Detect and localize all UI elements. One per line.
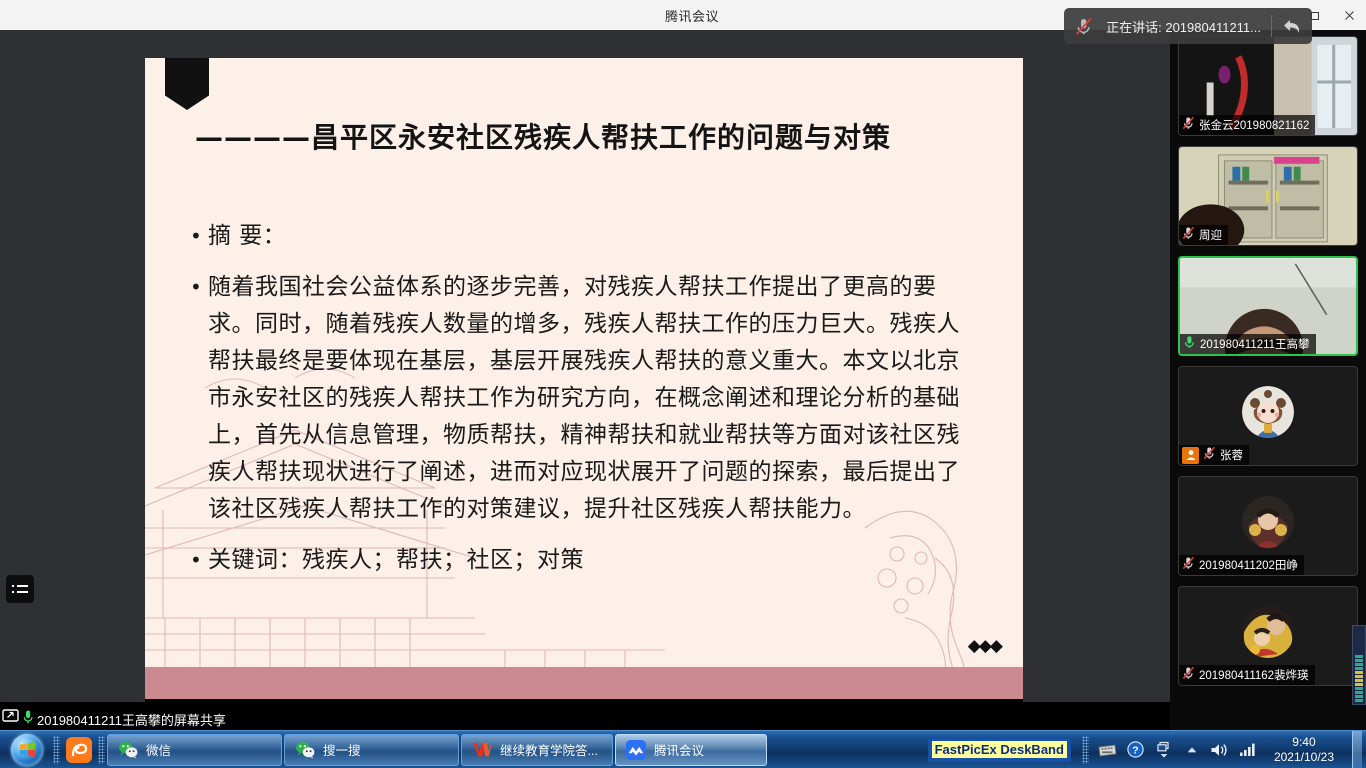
participant-tile[interactable]: 周迎 — [1178, 146, 1358, 246]
participant-namebar: 张金云201980821162 — [1179, 115, 1315, 135]
close-button[interactable] — [1332, 0, 1366, 30]
slide-body: • 摘 要： • 随着我国社会公益体系的逐步完善，对残疾人帮扶工作提出了更高的要… — [190, 218, 980, 593]
slide-bottom-bar — [145, 699, 1023, 702]
taskbar-clock[interactable]: 9:40 2021/10/23 — [1266, 735, 1342, 765]
slide-bullet-text: 关键词：残疾人；帮扶；社区；对策 — [208, 542, 584, 579]
fastpicex-deskband[interactable]: FastPicEx DeskBand — [928, 738, 1071, 762]
slide-bullet-text: 随着我国社会公益体系的逐步完善，对残疾人帮扶工作提出了更高的要求。同时，随着残疾… — [208, 269, 980, 528]
screen-share-status-text: 201980411211王高攀的屏幕共享 — [37, 710, 226, 729]
slide-bullet: • 随着我国社会公益体系的逐步完善，对残疾人帮扶工作提出了更高的要求。同时，随着… — [190, 269, 980, 528]
participant-tile[interactable]: 张金云201980821162 — [1178, 36, 1358, 136]
mic-muted-icon[interactable] — [1064, 17, 1104, 36]
wechat-icon — [295, 740, 315, 760]
participant-name: 201980411202田峥 — [1199, 557, 1298, 573]
mic-muted-icon — [1182, 556, 1195, 575]
uc-browser-icon[interactable] — [61, 737, 97, 763]
participant-name: 张金云201980821162 — [1199, 117, 1309, 133]
participant-tile[interactable]: 201980411202田峥 — [1178, 476, 1358, 576]
tencent-meeting-icon — [626, 740, 646, 760]
participant-namebar: 201980411211王高攀 — [1180, 334, 1316, 354]
host-badge-icon — [1182, 447, 1199, 464]
slide-diamond-decoration: ◆◆◆ — [968, 636, 1001, 656]
list-view-icon[interactable] — [6, 575, 34, 603]
desktop: 腾讯会议 — [0, 0, 1366, 768]
mic-on-icon — [22, 709, 34, 730]
avatar — [1242, 606, 1294, 658]
taskbar-item-tencent-meeting[interactable]: 腾讯会议 — [615, 734, 767, 766]
taskbar-item-label: 继续教育学院答... — [500, 740, 598, 759]
participant-name: 周迎 — [1199, 227, 1222, 243]
participant-tile[interactable]: 201980411162裴烨瑛 — [1178, 586, 1358, 686]
show-hidden-icons-icon[interactable] — [1182, 739, 1202, 761]
network-signal-icon[interactable] — [1238, 739, 1258, 761]
clock-date: 2021/10/23 — [1274, 750, 1334, 765]
mic-on-icon — [1183, 335, 1196, 354]
wps-icon — [472, 740, 492, 760]
mic-muted-icon — [1182, 116, 1195, 135]
participant-namebar: 张蓉 — [1179, 445, 1249, 465]
speaking-toast-text: 正在讲话: 201980411211... — [1104, 17, 1271, 36]
system-tray: FastPicEx DeskBand ? — [928, 731, 1366, 768]
screen-share-icon — [2, 709, 19, 729]
participant-tile[interactable]: 张蓉 — [1178, 366, 1358, 466]
mic-muted-icon — [1203, 446, 1216, 465]
keyboard-icon[interactable] — [1098, 739, 1118, 761]
toolbar-grip[interactable] — [97, 733, 106, 767]
shared-screen-stage: ————昌平区永安社区残疾人帮扶工作的问题与对策 • 摘 要： • 随着我国社会… — [0, 30, 1170, 702]
taskbar-item-wps[interactable]: 继续教育学院答... — [461, 734, 613, 766]
presentation-slide: ————昌平区永安社区残疾人帮扶工作的问题与对策 • 摘 要： • 随着我国社会… — [145, 58, 1023, 702]
volume-icon[interactable] — [1210, 739, 1230, 761]
taskbar-item-label: 微信 — [146, 740, 171, 759]
slide-tag-shape — [165, 58, 209, 110]
participant-namebar: 201980411202田峥 — [1179, 555, 1304, 575]
participant-tile-active-speaker[interactable]: 201980411211王高攀 — [1178, 256, 1358, 356]
mic-muted-icon — [1182, 226, 1195, 245]
participant-name: 201980411162裴烨瑛 — [1199, 667, 1309, 683]
speaking-toast: 正在讲话: 201980411211... — [1064, 8, 1312, 44]
window-switch-icon[interactable] — [1154, 739, 1174, 761]
toolbar-grip[interactable] — [1081, 733, 1090, 767]
participant-name: 张蓉 — [1220, 447, 1243, 463]
svg-text:?: ? — [1133, 744, 1139, 756]
windows-start-orb[interactable] — [2, 732, 52, 768]
help-icon[interactable]: ? — [1126, 739, 1146, 761]
participant-namebar: 201980411162裴烨瑛 — [1179, 665, 1315, 685]
screen-share-status-bar: 201980411211王高攀的屏幕共享 — [0, 708, 234, 730]
wechat-icon — [118, 740, 138, 760]
toolbar-grip[interactable] — [52, 733, 61, 767]
taskbar-item-label: 腾讯会议 — [654, 740, 704, 759]
mic-muted-icon — [1182, 666, 1195, 685]
participant-rail[interactable]: 张金云201980821162 — [1170, 30, 1366, 730]
taskbar-item-souyisou[interactable]: 搜一搜 — [284, 734, 459, 766]
slide-title: ————昌平区永安社区残疾人帮扶工作的问题与对策 — [195, 116, 995, 156]
participant-namebar: 周迎 — [1179, 225, 1228, 245]
bullet-marker: • — [190, 269, 208, 528]
taskbar-item-wechat[interactable]: 微信 — [107, 734, 282, 766]
slide-bullet: • 关键词：残疾人；帮扶；社区；对策 — [190, 542, 980, 579]
slide-bullet-text: 摘 要： — [208, 218, 286, 255]
taskbar-item-label: 搜一搜 — [323, 740, 361, 759]
show-desktop-button[interactable] — [1352, 731, 1362, 768]
bullet-marker: • — [190, 542, 208, 579]
reply-arrow-icon[interactable] — [1272, 17, 1312, 35]
deskband-label: FastPicEx DeskBand — [932, 741, 1067, 758]
slide-footer-band — [145, 667, 1023, 699]
windows-taskbar: 微信 搜一搜 — [0, 730, 1366, 768]
avatar — [1242, 386, 1294, 438]
avatar — [1242, 496, 1294, 548]
bullet-marker: • — [190, 218, 208, 255]
participant-name: 201980411211王高攀 — [1200, 336, 1310, 352]
clock-time: 9:40 — [1274, 735, 1334, 750]
slide-bullet: • 摘 要： — [190, 218, 980, 255]
audio-level-meter — [1352, 625, 1366, 705]
